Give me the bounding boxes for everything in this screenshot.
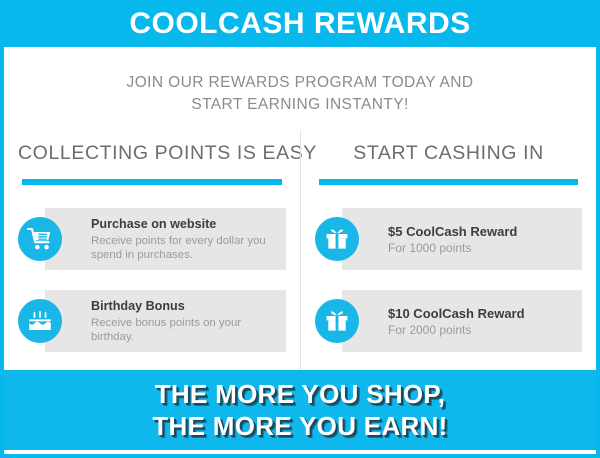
card-list-left: Purchase on website Receive points for e… — [18, 208, 286, 352]
subheading-line-2: START EARNING INSTANTY! — [4, 94, 596, 116]
list-item[interactable]: $10 CoolCash Reward For 2000 points — [342, 290, 582, 352]
subheading: JOIN OUR REWARDS PROGRAM TODAY AND START… — [4, 72, 596, 116]
list-item-title: Purchase on website — [91, 217, 278, 232]
list-item[interactable]: Purchase on website Receive points for e… — [45, 208, 286, 270]
rewards-poster: COOLCASH REWARDS JOIN OUR REWARDS PROGRA… — [0, 0, 600, 458]
list-item-description: Receive points for every dollar you spen… — [91, 234, 278, 262]
list-item-description: For 1000 points — [388, 241, 517, 255]
footer-line-1: THE MORE YOU SHOP, — [155, 378, 446, 410]
column-title-left: COLLECTING POINTS IS EASY — [18, 141, 286, 165]
list-item-text: $10 CoolCash Reward For 2000 points — [388, 306, 533, 337]
list-item-text: Purchase on website Receive points for e… — [91, 217, 286, 262]
birthday-cake-icon — [18, 299, 62, 343]
list-item-text: $5 CoolCash Reward For 1000 points — [388, 224, 525, 255]
list-item[interactable]: Birthday Bonus Receive bonus points on y… — [45, 290, 286, 352]
list-item-description: For 2000 points — [388, 323, 525, 337]
columns-container: COLLECTING POINTS IS EASY — [4, 130, 596, 370]
list-item-text: Birthday Bonus Receive bonus points on y… — [91, 299, 286, 344]
gift-box-icon — [315, 217, 359, 261]
list-item-description: Receive bonus points on your birthday. — [91, 316, 278, 344]
column-rule-left — [22, 179, 282, 185]
header-banner: COOLCASH REWARDS — [0, 0, 600, 47]
list-item-title: $5 CoolCash Reward — [388, 224, 517, 239]
column-title-right: START CASHING IN — [315, 141, 582, 165]
column-collecting-points: COLLECTING POINTS IS EASY — [4, 130, 300, 370]
footer-banner: THE MORE YOU SHOP, THE MORE YOU EARN! — [4, 370, 596, 450]
list-item-title: $10 CoolCash Reward — [388, 306, 525, 321]
card-list-right: $5 CoolCash Reward For 1000 points — [315, 208, 582, 352]
list-item-title: Birthday Bonus — [91, 299, 278, 314]
list-item[interactable]: $5 CoolCash Reward For 1000 points — [342, 208, 582, 270]
page-title: COOLCASH REWARDS — [129, 9, 470, 39]
column-rule-right — [319, 179, 578, 185]
subheading-line-1: JOIN OUR REWARDS PROGRAM TODAY AND — [4, 72, 596, 94]
shopping-cart-icon — [18, 217, 62, 261]
column-start-cashing-in: START CASHING IN $5 CoolCash — [300, 130, 596, 370]
footer-line-2: THE MORE YOU EARN! — [152, 410, 447, 442]
gift-box-icon — [315, 299, 359, 343]
